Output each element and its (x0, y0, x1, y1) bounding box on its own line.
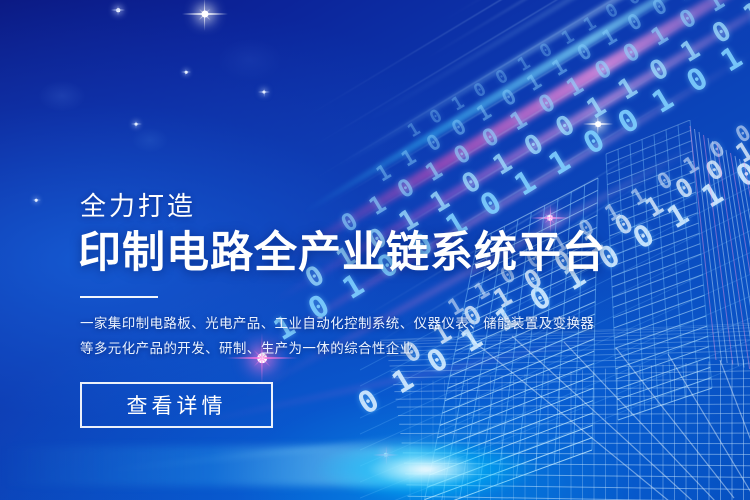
hero-subtitle-line-2: 等多元化产品的开发、研制、生产为一体的综合性企业 (80, 337, 598, 362)
light-streak (417, 0, 750, 65)
light-burst (300, 420, 600, 500)
light-streak (429, 0, 750, 30)
view-details-button[interactable]: 查看详情 (80, 382, 273, 428)
guide-line (300, 0, 746, 121)
hero-subtitle-line-1: 一家集印制电路板、光电产品、工业自动化控制系统、仪器仪表、储能装置及变换器 (80, 312, 598, 337)
title-divider (80, 296, 158, 298)
hero-content: 全力打造 印制电路全产业链系统平台 一家集印制电路板、光电产品、工业自动化控制系… (78, 190, 598, 428)
hero-headline: 印制电路全产业链系统平台 (78, 229, 598, 279)
hero-banner: 1 0 1 0 0 1 0 1 1 0 0 1 0 1 0 0 1 1 0 1 … (0, 0, 750, 500)
light-streak (351, 0, 750, 132)
hero-eyebrow: 全力打造 (80, 190, 598, 223)
